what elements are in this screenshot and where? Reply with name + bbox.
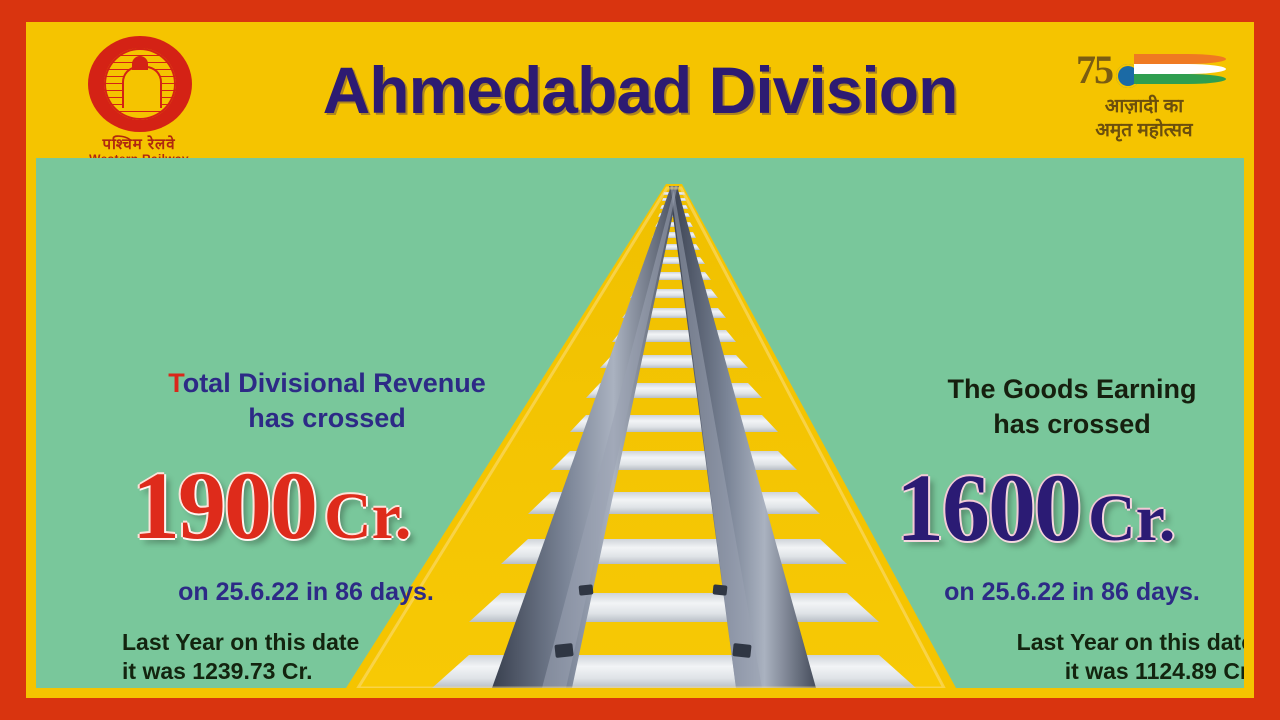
left-lead-line2: has crossed (248, 403, 406, 433)
goods-earning-unit: Cr. (1088, 482, 1175, 555)
right-last-year-line2: it was 1124.89 Cr. (1065, 658, 1244, 684)
total-revenue-unit: Cr. (324, 480, 411, 553)
goods-earning-amount: 1600Cr. (896, 460, 1175, 556)
right-lead-line1: The Goods Earning (947, 374, 1196, 404)
poster-card: पश्चिम रेलवे Western Railway Ahmedabad D… (26, 22, 1254, 698)
flag-white-band (1134, 64, 1226, 74)
right-lead-text: The Goods Earning has crossed (882, 372, 1244, 441)
amrit-line2: अमृत महोत्सव (1054, 116, 1234, 142)
left-last-year-line1: Last Year on this date (122, 629, 359, 655)
left-last-year-line2: it was 1239.73 Cr. (122, 658, 313, 684)
header-band: पश्चिम रेलवे Western Railway Ahmedabad D… (26, 22, 1254, 158)
flag-green-band (1134, 74, 1226, 84)
main-panel: Total Divisional Revenue has crossed 190… (36, 158, 1244, 688)
amrit-line1: आज़ादी का (1054, 92, 1234, 118)
azadi-ka-amrit-mahotsav-icon: 75 आज़ादी का अमृत महोत्सव (1054, 38, 1234, 150)
left-lead-text: Total Divisional Revenue has crossed (92, 366, 562, 435)
left-lead-line1: otal Divisional Revenue (183, 368, 486, 398)
flag-saffron-band (1134, 54, 1226, 64)
right-last-year: Last Year on this date it was 1124.89 Cr… (884, 628, 1244, 686)
left-lead-capital: T (168, 368, 183, 398)
amrit-75-number: 75 (1076, 46, 1112, 93)
right-lead-line2: has crossed (993, 409, 1151, 439)
total-revenue-amount: 1900Cr. (132, 458, 411, 554)
infographic-poster: पश्चिम रेलवे Western Railway Ahmedabad D… (0, 0, 1280, 720)
tricolor-flag-icon (1134, 54, 1226, 88)
right-dateline: on 25.6.22 in 86 days. (872, 578, 1244, 607)
left-dateline: on 25.6.22 in 86 days. (96, 578, 516, 607)
left-last-year: Last Year on this date it was 1239.73 Cr… (122, 628, 482, 686)
emblem-hindi-label: पश्चिम रेलवे (74, 134, 204, 154)
goods-earning-value: 1600 (896, 454, 1080, 561)
right-last-year-line1: Last Year on this date (1017, 629, 1244, 655)
total-revenue-value: 1900 (132, 452, 316, 559)
